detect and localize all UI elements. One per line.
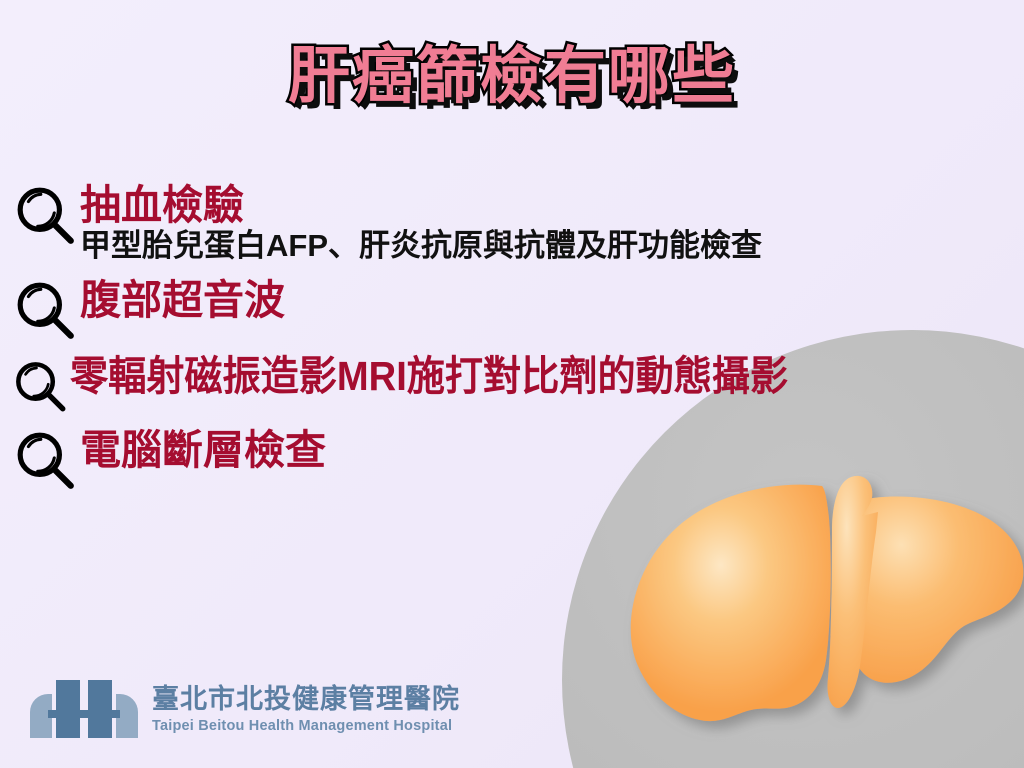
list-item-subheading: 甲型胎兒蛋白AFP、肝炎抗原與抗體及肝功能檢查 [80, 228, 1022, 264]
list-item-heading: 抽血檢驗 [80, 183, 1022, 227]
list-item-heading: 腹部超音波 [80, 278, 1022, 322]
hospital-name-en: Taipei Beitou Health Management Hospital [152, 718, 460, 735]
list-item: 零輻射磁振造影MRI施打對比劑的動態攝影 [12, 354, 1022, 418]
magnifier-icon [12, 185, 80, 247]
list-item-heading: 零輻射磁振造影MRI施打對比劑的動態攝影 [70, 354, 955, 398]
slide-canvas: 肝癌篩檢有哪些 抽血檢驗 甲型胎兒蛋白AFP、肝炎抗原與抗體及肝功能檢查 [0, 0, 1024, 768]
list-item-heading: 電腦斷層檢查 [80, 428, 1022, 472]
page-title: 肝癌篩檢有哪些 [0, 44, 1024, 109]
hospital-pillars-logo-icon [30, 672, 138, 744]
hospital-name-zh: 臺北市北投健康管理醫院 [152, 685, 460, 715]
list-item: 抽血檢驗 甲型胎兒蛋白AFP、肝炎抗原與抗體及肝功能檢查 [12, 183, 1022, 264]
magnifier-icon [12, 356, 70, 418]
magnifier-icon [12, 430, 80, 492]
hospital-logo: 臺北市北投健康管理醫院 Taipei Beitou Health Managem… [30, 672, 460, 744]
screening-method-list: 抽血檢驗 甲型胎兒蛋白AFP、肝炎抗原與抗體及肝功能檢查 腹部超音波 [12, 183, 1022, 500]
magnifier-icon [12, 280, 80, 342]
list-item: 腹部超音波 [12, 278, 1022, 342]
list-item: 電腦斷層檢查 [12, 428, 1022, 492]
